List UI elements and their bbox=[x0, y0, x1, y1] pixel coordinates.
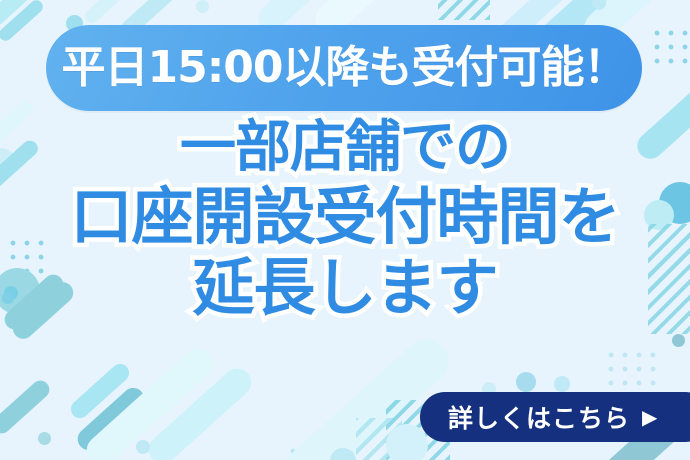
decor-dot-grid bbox=[650, 26, 690, 68]
play-arrow-icon: ▶ bbox=[642, 407, 657, 427]
availability-badge: 平日15:00以降も受付可能！ bbox=[46, 25, 642, 111]
decor-bar bbox=[0, 377, 53, 437]
headline-line-3: 延長します bbox=[0, 255, 690, 322]
availability-badge-label: 平日15:00以降も受付可能！ bbox=[61, 46, 626, 90]
decor-circle bbox=[516, 372, 536, 392]
details-cta-button[interactable]: 詳しくはこちら ▶ bbox=[420, 392, 690, 442]
headline-line-2: 口座開設受付時間を bbox=[0, 184, 690, 251]
details-cta-label: 詳しくはこちら bbox=[448, 399, 630, 435]
headline-block: 一部店舗での 口座開設受付時間を 延長します bbox=[0, 118, 690, 322]
decor-circle bbox=[672, 334, 685, 347]
decor-dot-grid bbox=[604, 348, 660, 390]
decor-circle bbox=[136, 440, 150, 454]
decor-circle bbox=[386, 424, 428, 460]
decor-circle bbox=[196, 0, 209, 13]
promo-banner: 平日15:00以降も受付可能！ 一部店舗での 口座開設受付時間を 延長します 詳… bbox=[0, 0, 690, 460]
decor-circle bbox=[554, 376, 570, 392]
decor-circle bbox=[38, 432, 51, 445]
headline-line-1: 一部店舗での bbox=[0, 118, 690, 178]
decor-hatch bbox=[438, 0, 490, 20]
